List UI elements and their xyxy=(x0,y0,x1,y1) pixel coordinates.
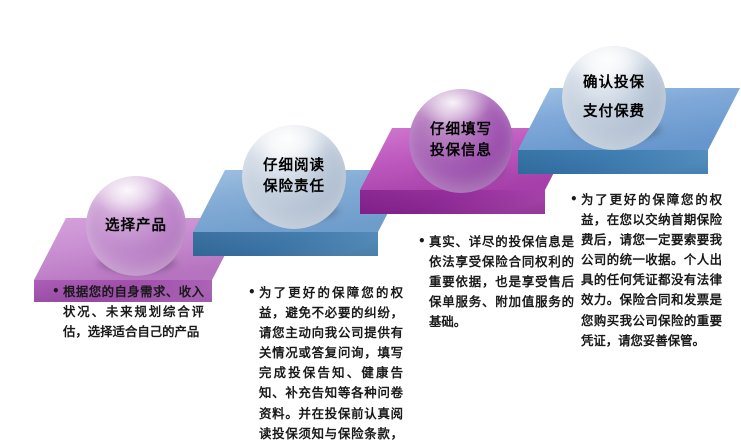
step-2-orb[interactable]: 仔细阅读 保险责任 xyxy=(242,125,346,229)
step-3-body-text: 真实、详尽的投保信息是依法享受保险合同权利的重要依据，也是享受售后保单服务、附加… xyxy=(429,232,574,332)
step-3-orb-label-line-2: 投保信息 xyxy=(430,141,492,162)
step-4-orb-label-line-2: 支付保费 xyxy=(583,98,645,127)
step-1-body-text: 根据您的自身需求、收入状况、未来规划综合评估，选择适合自己的产品 xyxy=(63,282,204,342)
step-1-orb-label-line-1: 选择产品 xyxy=(105,216,167,237)
step-2-orb-label-line-1: 仔细阅读 xyxy=(263,156,325,177)
step-2-body: • 为了更好的保障您的权益，避免不必要的纠纷，请您主动向我公司提供有关情况或答复… xyxy=(248,283,403,445)
step-1-bullet: • xyxy=(52,282,63,301)
step-4-bullet: • xyxy=(570,190,581,209)
step-1-orb[interactable]: 选择产品 xyxy=(86,176,186,276)
step-2-orb-label-line-2: 保险责任 xyxy=(263,177,325,198)
step-4-orb-label-line-1: 确认投保 xyxy=(583,69,645,98)
step-3-body: • 真实、详尽的投保信息是依法享受保险合同权利的重要依据，也是享受售后保单服务、… xyxy=(418,232,574,332)
step-3-bullet: • xyxy=(418,232,429,251)
step-4-body-text: 为了更好的保障您的权益，在您以交纳首期保险费后，请您一定要索要我公司的统一收据。… xyxy=(581,190,722,351)
step-3-orb-label-line-1: 仔细填写 xyxy=(430,120,492,141)
step-1-body: • 根据您的自身需求、收入状况、未来规划综合评估，选择适合自己的产品 xyxy=(52,282,204,342)
step-4-orb[interactable]: 确认投保 支付保费 xyxy=(562,46,666,150)
step-2-body-text: 为了更好的保障您的权益，避免不必要的纠纷，请您主动向我公司提供有关情况或答复问询… xyxy=(259,283,403,445)
diagram-canvas: 选择产品 • 根据您的自身需求、收入状况、未来规划综合评估，选择适合自己的产品 xyxy=(0,0,741,445)
step-4-body: • 为了更好的保障您的权益，在您以交纳首期保险费后，请您一定要索要我公司的统一收… xyxy=(570,190,722,351)
step-2-bullet: • xyxy=(248,283,259,302)
step-3-orb[interactable]: 仔细填写 投保信息 xyxy=(409,89,513,193)
